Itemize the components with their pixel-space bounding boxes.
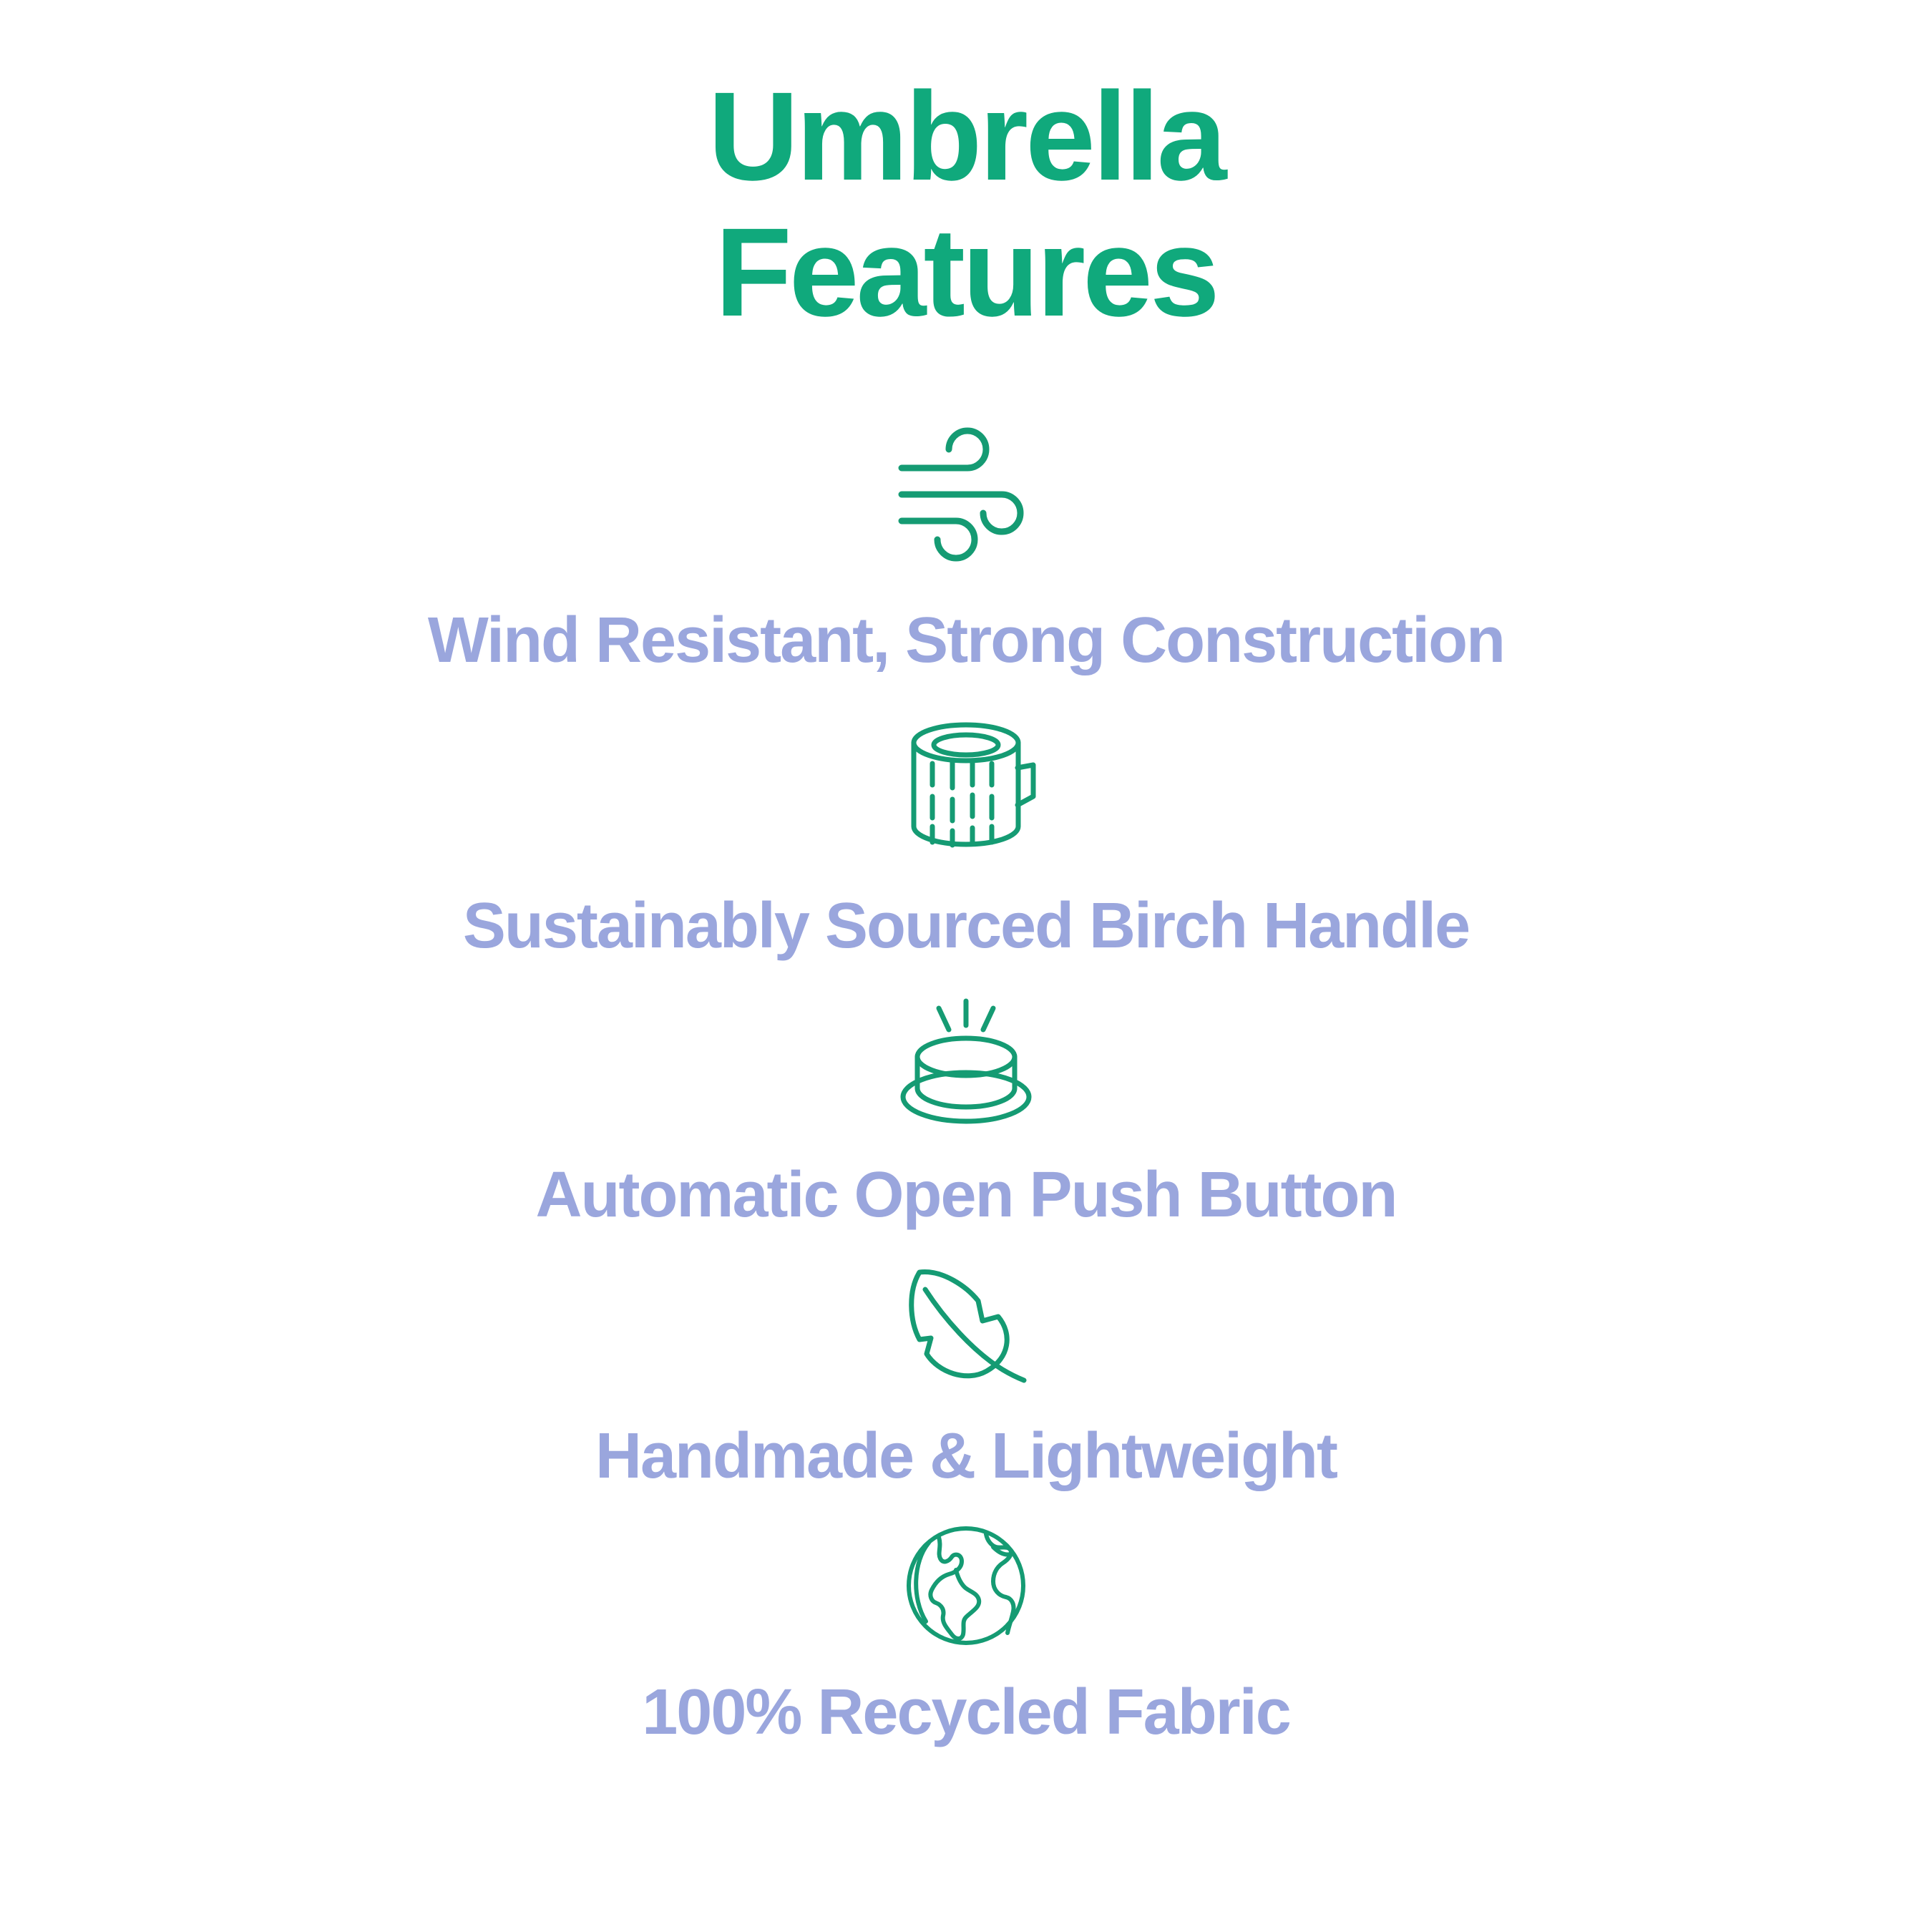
feature-item-handmade-lightweight: Handmade & Lightweight — [0, 1259, 1932, 1491]
feature-label-birch-handle: Sustainably Sourced Birch Handle — [463, 892, 1469, 960]
feature-label-push-button: Automatic Open Push Button — [536, 1161, 1397, 1229]
umbrella-features-infographic: Umbrella Features Wind Resistant, Strong… — [0, 0, 1932, 1932]
page-title-line-2: Features — [0, 205, 1932, 341]
feature-item-wind: Wind Resistant, Strong Construction — [0, 434, 1932, 675]
globe-icon — [902, 1521, 1030, 1650]
feature-item-recycled-fabric: 100% Recycled Fabric — [0, 1521, 1932, 1747]
push-button-icon — [894, 995, 1038, 1131]
feature-item-push-button: Automatic Open Push Button — [0, 995, 1932, 1229]
wind-icon — [894, 434, 1038, 555]
feature-label-recycled-fabric: 100% Recycled Fabric — [642, 1679, 1290, 1747]
feature-label-handmade-lightweight: Handmade & Lightweight — [595, 1423, 1337, 1491]
feature-item-birch-handle: Sustainably Sourced Birch Handle — [0, 719, 1932, 960]
feather-icon — [898, 1259, 1034, 1395]
log-icon — [898, 719, 1034, 855]
page-title-line-1: Umbrella — [0, 69, 1932, 205]
features-list: Wind Resistant, Strong Construction — [0, 434, 1932, 1747]
page-title: Umbrella Features — [0, 69, 1932, 341]
feature-label-wind: Wind Resistant, Strong Construction — [428, 607, 1504, 675]
